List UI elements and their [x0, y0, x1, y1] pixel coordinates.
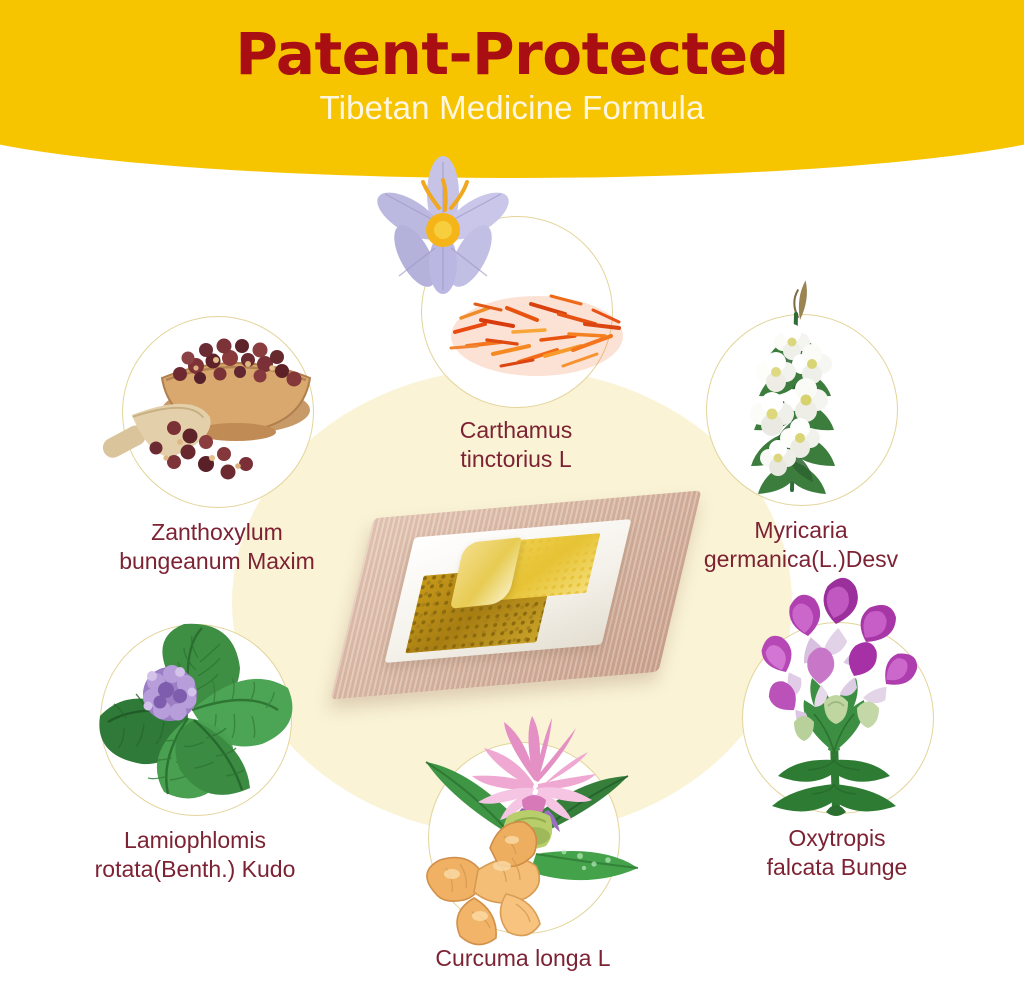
herb-label-line1: Curcuma longa L [382, 944, 664, 973]
herb-label-lamiophlomis: Lamiophlomis rotata(Benth.) Kudo [54, 826, 336, 885]
turmeric-rhizome-flower-icon [428, 742, 618, 932]
herb-label-line1: Carthamus [375, 416, 657, 445]
header-banner: Patent-Protected Tibetan Medicine Formul… [0, 0, 1024, 178]
herb-label-line2: bungeanum Maxim [76, 547, 358, 576]
herb-label-line1: Zanthoxylum [76, 518, 358, 547]
herb-label-zanthoxylum: Zanthoxylum bungeanum Maxim [76, 518, 358, 577]
herb-label-oxytropis: Oxytropis falcata Bunge [696, 824, 978, 883]
page-title: Patent-Protected [235, 24, 788, 84]
header-banner-content: Patent-Protected Tibetan Medicine Formul… [0, 0, 1024, 178]
herb-label-curcuma: Curcuma longa L [382, 944, 664, 973]
herb-label-carthamus: Carthamus tinctorius L [375, 416, 657, 475]
herb-label-line1: Lamiophlomis [54, 826, 336, 855]
page-subtitle: Tibetan Medicine Formula [319, 90, 704, 126]
herb-label-line2: falcata Bunge [696, 853, 978, 882]
herb-label-line2: tinctorius L [375, 445, 657, 474]
infographic-canvas: Zanthoxylum bungeanum Maxim [0, 0, 1024, 994]
central-product-image [330, 482, 702, 714]
sichuan-pepper-bowl-icon [122, 316, 312, 506]
herb-label-myricaria: Myricaria germanica(L.)Desv [660, 516, 942, 575]
white-flower-spike-icon [706, 314, 896, 504]
purple-pea-flower-icon [742, 622, 932, 812]
herb-label-line1: Myricaria [660, 516, 942, 545]
safflower-crocus-icon [421, 216, 611, 406]
herb-label-line2: germanica(L.)Desv [660, 545, 942, 574]
herb-label-line2: rotata(Benth.) Kudo [54, 855, 336, 884]
green-leaf-rosette-icon [100, 624, 290, 814]
herb-label-line1: Oxytropis [696, 824, 978, 853]
